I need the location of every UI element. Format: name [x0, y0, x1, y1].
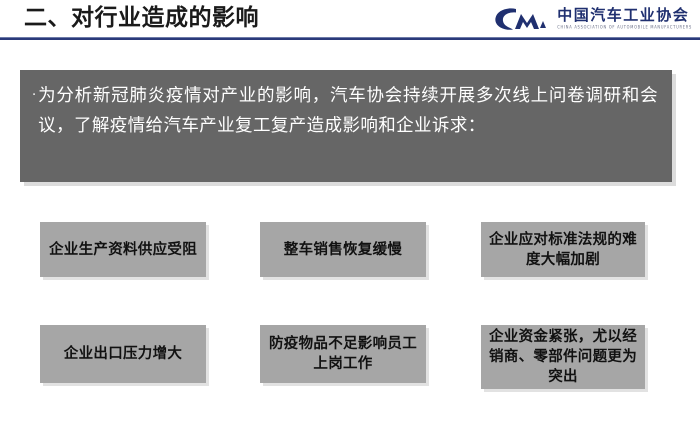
impact-box-supply-disruption: 企业生产资料供应受阻: [40, 222, 206, 277]
impact-box-export-pressure: 企业出口压力增大: [40, 325, 206, 383]
impact-box-cash-flow-strain: 企业资金紧张，尤以经销商、零部件问题更为突出: [481, 325, 645, 389]
impact-box-label: 企业生产资料供应受阻: [46, 240, 200, 260]
intro-banner: · 为分析新冠肺炎疫情对产业的影响，汽车协会持续开展多次线上问卷调研和会议，了解…: [20, 70, 672, 182]
header-divider: [0, 37, 700, 40]
page-title: 二、对行业造成的影响: [24, 3, 259, 34]
caam-logo-text: 中国汽车工业协会 CHINA ASSOCIATION OF AUTOMOBILE…: [557, 8, 692, 30]
impact-box-label: 企业出口压力增大: [46, 344, 200, 364]
caam-logo-mark: [493, 6, 551, 32]
impact-box-label: 企业资金紧张，尤以经销商、零部件问题更为突出: [487, 327, 639, 387]
intro-text: 为分析新冠肺炎疫情对产业的影响，汽车协会持续开展多次线上问卷调研和会议，了解疫情…: [38, 81, 658, 141]
impact-box-regulatory-difficulty: 企业应对标准法规的难度大幅加剧: [481, 222, 645, 277]
impact-box-ppe-shortage: 防疫物品不足影响员工上岗工作: [260, 325, 426, 383]
impact-box-label: 防疫物品不足影响员工上岗工作: [266, 334, 420, 374]
impact-box-grid: 企业生产资料供应受阻 整车销售恢复缓慢 企业应对标准法规的难度大幅加剧 企业出口…: [0, 205, 700, 415]
intro-row: · 为分析新冠肺炎疫情对产业的影响，汽车协会持续开展多次线上问卷调研和会议，了解…: [32, 81, 658, 141]
impact-box-label: 企业应对标准法规的难度大幅加剧: [487, 230, 639, 270]
caam-logo-chinese: 中国汽车工业协会: [557, 8, 692, 23]
impact-box-label: 整车销售恢复缓慢: [266, 240, 420, 260]
caam-logo: 中国汽车工业协会 CHINA ASSOCIATION OF AUTOMOBILE…: [493, 4, 692, 34]
caam-logo-english: CHINA ASSOCIATION OF AUTOMOBILE MANUFACT…: [557, 26, 692, 30]
slide-header: 二、对行业造成的影响 中国汽车工业协会 CHINA ASSOCIATION OF…: [0, 0, 700, 41]
impact-box-slow-vehicle-sales: 整车销售恢复缓慢: [260, 222, 426, 277]
